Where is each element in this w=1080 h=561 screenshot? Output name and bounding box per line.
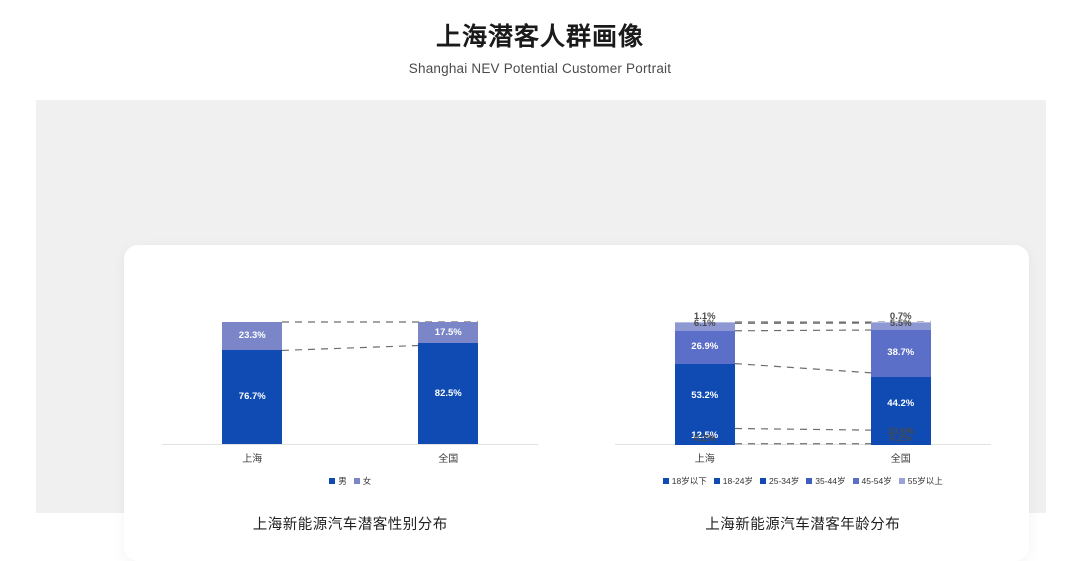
segment-label: 0.2%: [890, 434, 912, 444]
legend-item-gender-0[interactable]: 男: [329, 475, 347, 487]
legend-label: 18岁以下: [672, 475, 707, 487]
legend-swatch-icon: [899, 478, 905, 484]
segment-gender-0[interactable]: 76.7%: [222, 350, 282, 444]
legend-swatch-icon: [806, 478, 812, 484]
segment-gender-1[interactable]: 82.5%: [418, 343, 478, 444]
age-plot-inner: 1.1%6.1%26.9%53.2%12.5%0.2% 0.7%5.5%38.7…: [633, 245, 973, 445]
age-plot-area: 1.1%6.1%26.9%53.2%12.5%0.2% 0.7%5.5%38.7…: [577, 245, 1030, 445]
segment-age-0[interactable]: 53.2%: [675, 364, 735, 429]
segment-label: 6.1%: [694, 319, 716, 329]
segment-age-0[interactable]: 6.1%: [675, 323, 735, 330]
bar-gender-shanghai[interactable]: 23.3%76.7%: [222, 322, 282, 444]
legend-swatch-icon: [663, 478, 669, 484]
legend-item-age-3[interactable]: 35-44岁: [806, 475, 845, 487]
legend-swatch-icon: [354, 478, 360, 484]
legend-item-age-4[interactable]: 45-54岁: [853, 475, 892, 487]
segment-label: 17.5%: [435, 328, 462, 338]
bar-gender-national[interactable]: 17.5%82.5%: [418, 322, 478, 444]
segment-gender-1[interactable]: 17.5%: [418, 322, 478, 343]
legend-item-age-0[interactable]: 18岁以下: [663, 475, 707, 487]
segment-gender-0[interactable]: 23.3%: [222, 322, 282, 350]
page-header: 上海潜客人群画像 Shanghai NEV Potential Customer…: [0, 0, 1080, 76]
legend-item-age-1[interactable]: 18-24岁: [714, 475, 753, 487]
legend-swatch-icon: [760, 478, 766, 484]
gender-legend: 男女: [124, 475, 577, 487]
bar-age-national[interactable]: 0.7%5.5%38.7%44.2%10.6%0.2%: [871, 322, 931, 444]
segment-label: 26.9%: [691, 342, 718, 352]
gender-tick-shanghai: 上海: [207, 450, 297, 465]
page-title: 上海潜客人群画像: [0, 22, 1080, 52]
chart-age: 1.1%6.1%26.9%53.2%12.5%0.2% 0.7%5.5%38.7…: [577, 245, 1030, 561]
page-subtitle: Shanghai NEV Potential Customer Portrait: [0, 61, 1080, 76]
segment-label: 38.7%: [887, 348, 914, 358]
segment-age-1[interactable]: 44.2%: [871, 377, 931, 431]
age-axis-line: [615, 444, 991, 445]
segment-label: 44.2%: [887, 399, 914, 409]
chart-gender: 23.3%76.7% 17.5%82.5% 上海 全国 男女 上海新能源汽车潜客…: [124, 245, 577, 561]
segment-label: 23.3%: [239, 331, 266, 341]
segment-age-1[interactable]: 5.5%: [871, 323, 931, 330]
charts-row: 23.3%76.7% 17.5%82.5% 上海 全国 男女 上海新能源汽车潜客…: [124, 245, 1029, 561]
gender-caption: 上海新能源汽车潜客性别分布: [124, 513, 577, 534]
age-tick-shanghai: 上海: [660, 450, 750, 465]
segment-label: 82.5%: [435, 389, 462, 399]
legend-label: 55岁以上: [908, 475, 943, 487]
legend-label: 女: [363, 475, 372, 487]
legend-label: 18-24岁: [723, 475, 753, 487]
gender-axis-line: [162, 444, 538, 445]
legend-label: 45-54岁: [862, 475, 892, 487]
gender-plot-area: 23.3%76.7% 17.5%82.5% 上海 全国: [124, 245, 577, 445]
legend-label: 35-44岁: [815, 475, 845, 487]
segment-label: 76.7%: [239, 392, 266, 402]
legend-item-gender-1[interactable]: 女: [354, 475, 372, 487]
age-caption: 上海新能源汽车潜客年龄分布: [577, 513, 1030, 534]
legend-swatch-icon: [329, 478, 335, 484]
charts-card: 23.3%76.7% 17.5%82.5% 上海 全国 男女 上海新能源汽车潜客…: [124, 245, 1029, 561]
gender-tick-national: 全国: [403, 450, 493, 465]
segment-label: 53.2%: [691, 391, 718, 401]
legend-label: 25-34岁: [769, 475, 799, 487]
legend-item-age-5[interactable]: 55岁以上: [899, 475, 943, 487]
legend-swatch-icon: [714, 478, 720, 484]
gray-background-panel: 23.3%76.7% 17.5%82.5% 上海 全国 男女 上海新能源汽车潜客…: [36, 100, 1046, 513]
segment-label: 5.5%: [890, 319, 912, 329]
legend-label: 男: [338, 475, 347, 487]
gender-plot-inner: 23.3%76.7% 17.5%82.5% 上海 全国: [180, 245, 520, 445]
legend-item-age-2[interactable]: 25-34岁: [760, 475, 799, 487]
segment-age-1[interactable]: 38.7%: [871, 330, 931, 377]
age-legend: 18岁以下18-24岁25-34岁35-44岁45-54岁55岁以上: [577, 475, 1030, 487]
segment-label: 0.2%: [694, 434, 716, 444]
legend-swatch-icon: [853, 478, 859, 484]
segment-age-0[interactable]: 26.9%: [675, 331, 735, 364]
bar-age-shanghai[interactable]: 1.1%6.1%26.9%53.2%12.5%0.2%: [675, 322, 735, 444]
age-tick-national: 全国: [856, 450, 946, 465]
